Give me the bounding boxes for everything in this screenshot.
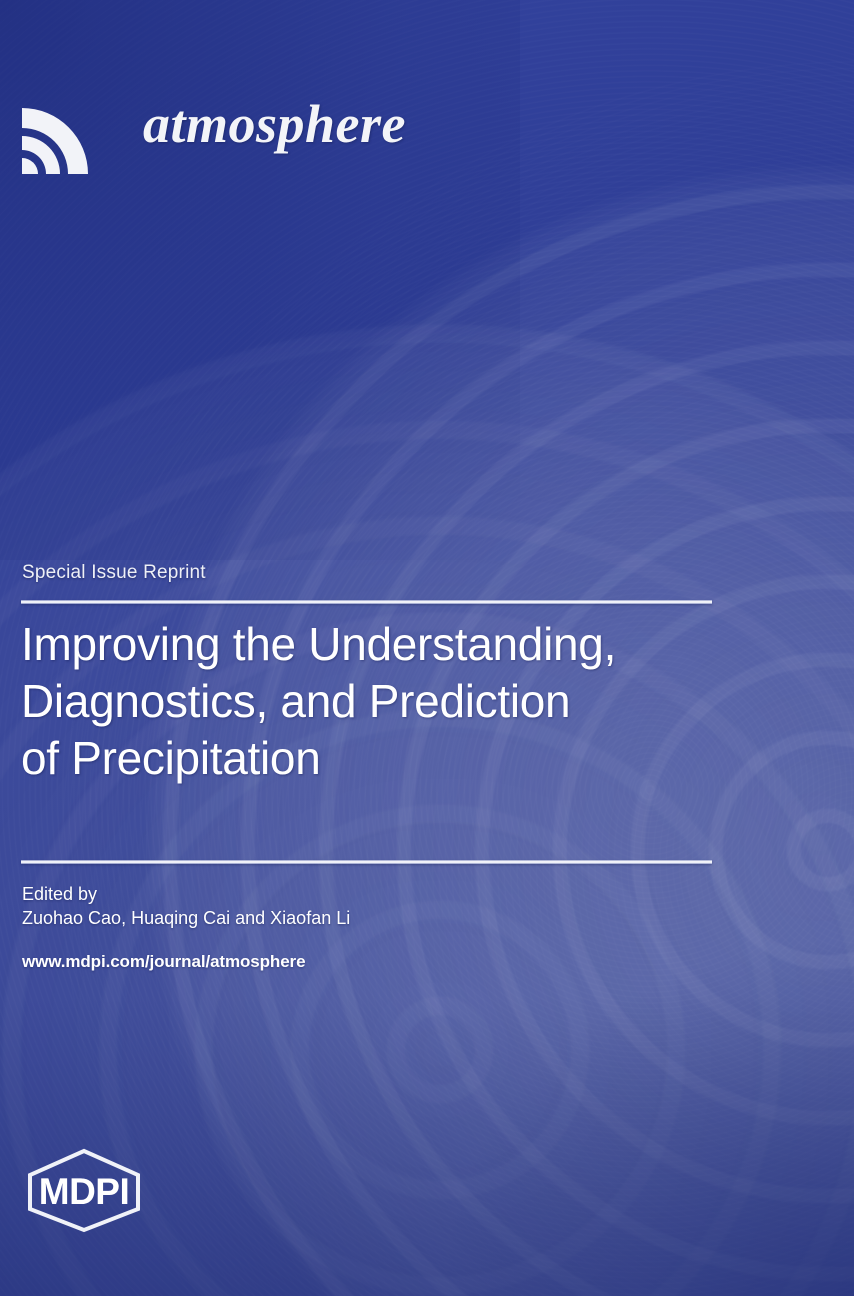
special-issue-reprint-label: Special Issue Reprint [22,562,206,584]
page-title-line: of Precipitation [21,730,721,787]
signal-waves-icon [18,92,104,178]
title-divider-bottom [21,860,712,864]
book-cover: atmosphere Special Issue Reprint Improvi… [0,0,854,1296]
page-title-line: Improving the Understanding, [21,616,721,673]
journal-header: atmosphere [0,0,854,200]
edited-by-label: Edited by [22,884,97,905]
page-title: Improving the Understanding, Diagnostics… [21,616,721,787]
journal-wordmark: atmosphere [143,93,406,155]
background-vignette-bottom-right [434,936,854,1296]
page-title-line: Diagnostics, and Prediction [21,673,721,730]
mdpi-hexagon-logo: MDPI [20,1146,148,1234]
editors-list: Zuohao Cao, Huaqing Cai and Xiaofan Li [22,908,350,929]
svg-text:MDPI: MDPI [39,1171,130,1212]
journal-url[interactable]: www.mdpi.com/journal/atmosphere [22,952,305,972]
title-divider-top [21,600,712,604]
